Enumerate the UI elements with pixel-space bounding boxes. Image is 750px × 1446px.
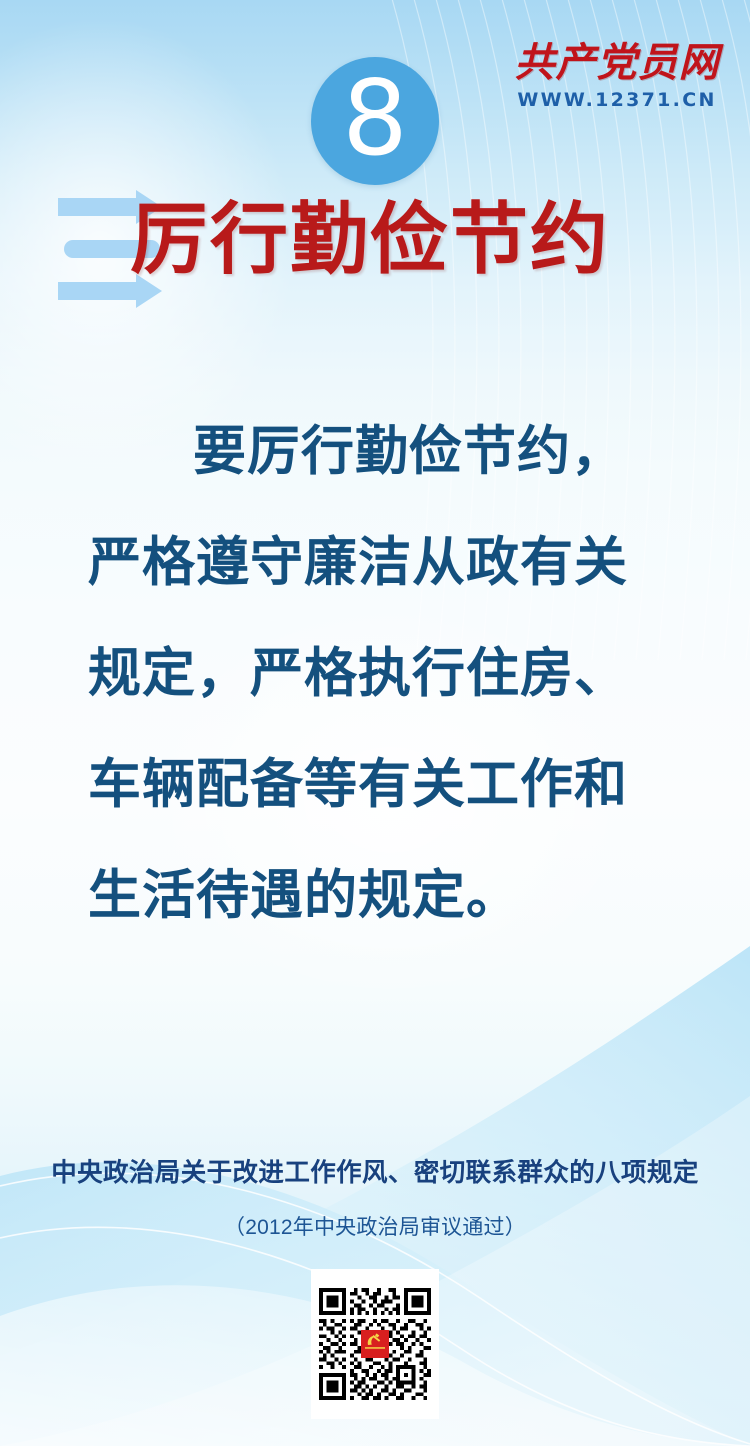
hammer-sickle-icon: [364, 1332, 386, 1350]
site-logo-url: WWW.12371.CN: [506, 89, 728, 111]
body-line: 车辆配备等有关工作和: [88, 729, 668, 840]
step-number-text: 8: [342, 68, 408, 171]
body-line: 规定，严格执行住房、: [88, 618, 668, 729]
body-line: 严格遵守廉洁从政有关: [88, 507, 668, 618]
step-number-badge: 8: [311, 57, 439, 185]
qr-code[interactable]: [311, 1269, 439, 1419]
body-line: 要厉行勤俭节约，: [88, 396, 668, 507]
page-title: 厉行勤俭节约: [130, 196, 690, 283]
poster-canvas: 8 共产党员网 WWW.12371.CN 厉行勤俭节约 要厉行勤俭节约， 严格遵…: [0, 0, 750, 1446]
site-logo[interactable]: 共产党员网 WWW.12371.CN: [506, 42, 728, 111]
party-emblem-icon: [361, 1330, 389, 1358]
footer-title: 中央政治局关于改进工作作风、密切联系群众的八项规定: [0, 1152, 750, 1189]
footer-subtitle: （2012年中央政治局审议通过）: [0, 1211, 750, 1241]
qr-code-matrix: [319, 1288, 431, 1400]
body-line: 生活待遇的规定。: [88, 840, 668, 951]
site-logo-wordmark: 共产党员网: [506, 42, 728, 84]
body-copy: 要厉行勤俭节约， 严格遵守廉洁从政有关 规定，严格执行住房、 车辆配备等有关工作…: [88, 396, 668, 951]
